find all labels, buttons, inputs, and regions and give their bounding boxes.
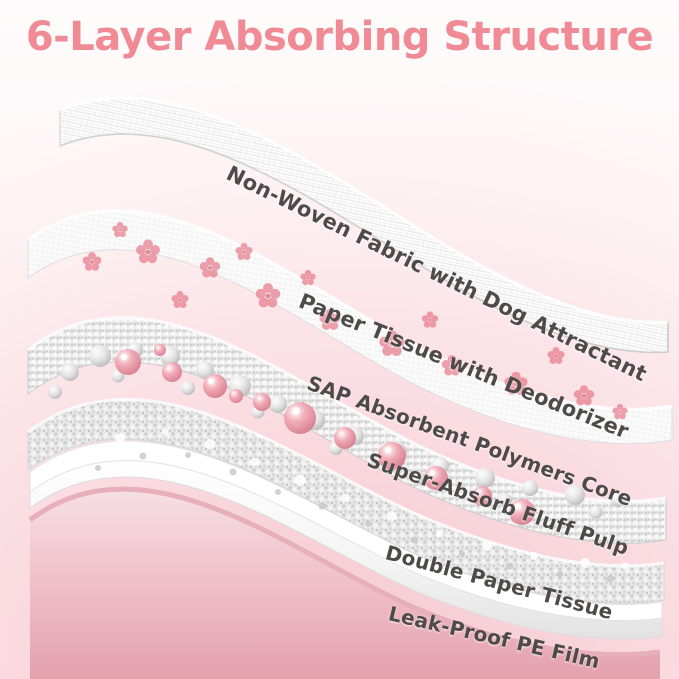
product-structure-illustration: 6-Layer Absorbing Structure [0,0,679,679]
